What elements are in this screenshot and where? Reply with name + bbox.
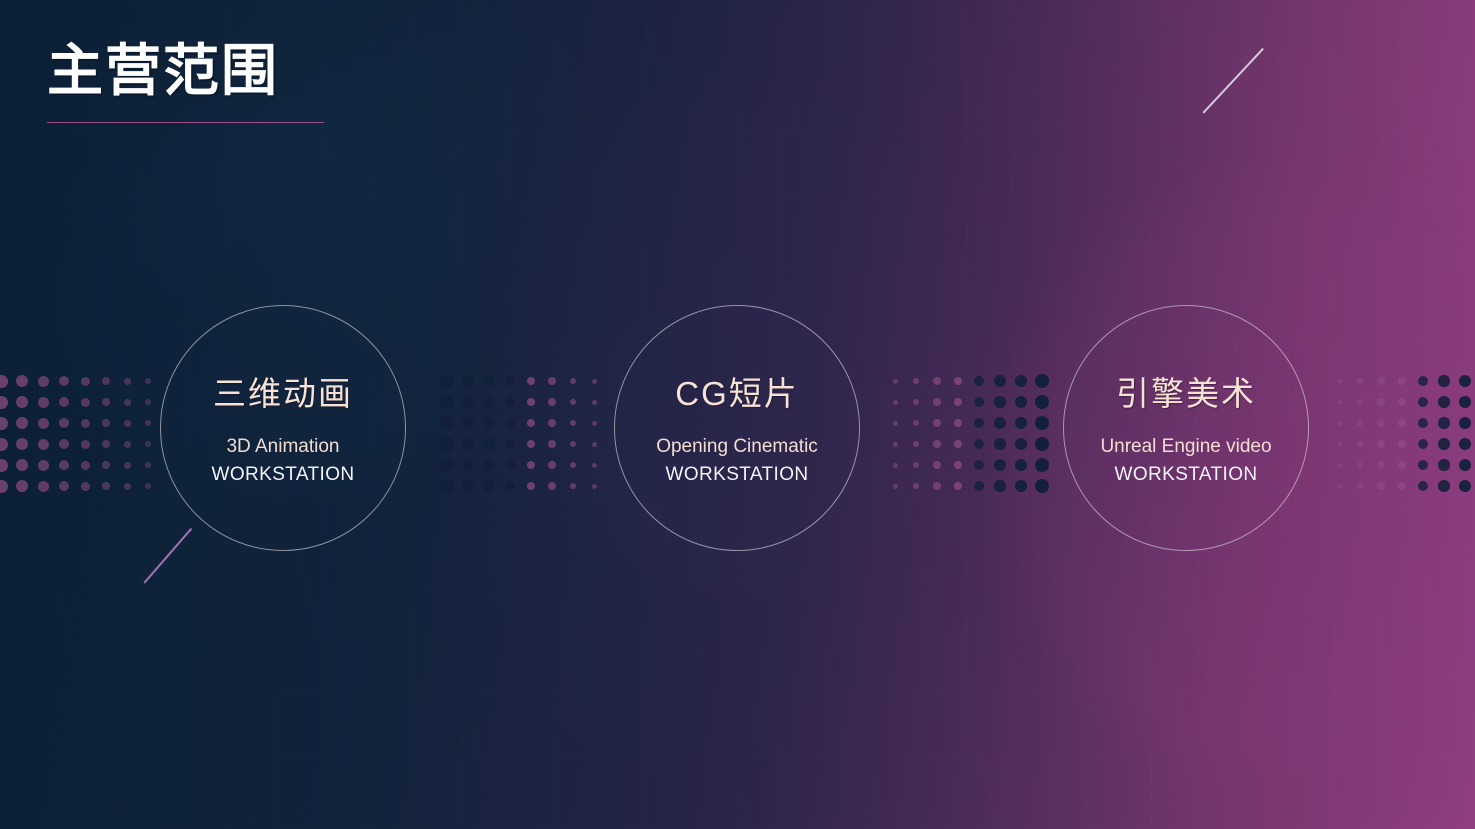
decorative-dot bbox=[954, 377, 963, 386]
decorative-dot bbox=[16, 480, 28, 492]
decorative-dot bbox=[1015, 417, 1028, 430]
decorative-dot bbox=[1418, 481, 1428, 491]
decorative-dot bbox=[81, 482, 90, 491]
decorative-dot bbox=[16, 438, 28, 450]
service-circle-engine-art[interactable]: 引擎美术 Unreal Engine video WORKSTATION bbox=[1063, 305, 1309, 551]
decorative-dot bbox=[913, 378, 919, 384]
decorative-dot bbox=[59, 376, 69, 386]
dot-grid-right bbox=[1332, 374, 1475, 484]
decorative-dot bbox=[1015, 396, 1028, 409]
decorative-dot bbox=[462, 396, 475, 409]
decorative-dot bbox=[1398, 440, 1407, 449]
decorative-dot bbox=[974, 481, 984, 491]
decorative-dot bbox=[1459, 459, 1472, 472]
decorative-dot bbox=[994, 480, 1005, 491]
decorative-dot bbox=[440, 416, 454, 430]
decorative-dot bbox=[994, 417, 1005, 428]
decorative-dot bbox=[1377, 398, 1385, 406]
decorative-dot bbox=[1377, 440, 1385, 448]
decorative-dot bbox=[974, 439, 984, 449]
decorative-dot bbox=[1357, 441, 1363, 447]
decorative-dot bbox=[124, 483, 131, 490]
decorative-dot bbox=[483, 375, 494, 386]
decorative-dot bbox=[527, 461, 536, 470]
decorative-dot bbox=[483, 438, 494, 449]
decorative-dot bbox=[124, 462, 131, 469]
decorative-dot bbox=[527, 440, 536, 449]
decorative-dot bbox=[570, 378, 576, 384]
decorative-dot bbox=[1459, 396, 1472, 409]
decorative-dot bbox=[505, 439, 515, 449]
decorative-dot bbox=[0, 375, 8, 388]
decorative-dot bbox=[548, 419, 556, 427]
decorative-dot bbox=[933, 377, 941, 385]
decorative-dot bbox=[102, 377, 110, 385]
decorative-dot bbox=[145, 399, 151, 405]
service-workstation-label: WORKSTATION bbox=[1114, 461, 1257, 490]
decorative-dot bbox=[1377, 482, 1385, 490]
decorative-dot bbox=[1398, 377, 1407, 386]
decorative-dot bbox=[994, 438, 1005, 449]
service-title-en: Unreal Engine video bbox=[1100, 433, 1271, 462]
decorative-dot bbox=[954, 440, 963, 449]
decorative-dot bbox=[954, 461, 963, 470]
decorative-dot bbox=[59, 418, 69, 428]
decorative-dot bbox=[1035, 437, 1049, 451]
decorative-dot bbox=[0, 438, 8, 451]
decorative-dot bbox=[1015, 438, 1028, 451]
decorative-dot bbox=[1418, 418, 1428, 428]
decorative-dot bbox=[505, 460, 515, 470]
decorative-dot bbox=[592, 379, 597, 384]
decorative-dot bbox=[933, 440, 941, 448]
decorative-dot bbox=[527, 419, 536, 428]
decorative-dot bbox=[124, 399, 131, 406]
decorative-dot bbox=[1337, 442, 1342, 447]
decorative-dot bbox=[483, 459, 494, 470]
decorative-dot bbox=[1438, 459, 1449, 470]
decorative-dot bbox=[954, 419, 963, 428]
dot-grid-left bbox=[0, 374, 144, 484]
decorative-dot bbox=[994, 396, 1005, 407]
decorative-dot bbox=[1438, 417, 1449, 428]
decorative-dot bbox=[1438, 438, 1449, 449]
decorative-dot bbox=[548, 377, 556, 385]
decorative-dot bbox=[913, 441, 919, 447]
decorative-dot bbox=[1337, 484, 1342, 489]
decorative-dot bbox=[38, 397, 49, 408]
service-title-cn: 引擎美术 bbox=[1116, 367, 1256, 415]
decorative-dot bbox=[974, 418, 984, 428]
decorative-dot bbox=[16, 375, 28, 387]
decorative-dot bbox=[483, 417, 494, 428]
decorative-dot bbox=[38, 418, 49, 429]
decorative-dot bbox=[1418, 460, 1428, 470]
decorative-dot bbox=[38, 376, 49, 387]
decorative-dot bbox=[59, 460, 69, 470]
decorative-dot bbox=[145, 462, 151, 468]
decorative-dot bbox=[548, 398, 556, 406]
decorative-dot bbox=[1337, 463, 1342, 468]
decorative-dot bbox=[81, 398, 90, 407]
decorative-dot bbox=[893, 379, 898, 384]
decorative-dot bbox=[1377, 377, 1385, 385]
decorative-dot bbox=[0, 417, 8, 430]
decorative-dot bbox=[1459, 375, 1472, 388]
decorative-dot bbox=[505, 376, 515, 386]
decorative-dot bbox=[592, 442, 597, 447]
decorative-dot bbox=[1035, 416, 1049, 430]
decorative-dot bbox=[1035, 374, 1049, 388]
decorative-dot bbox=[893, 484, 898, 489]
decorative-dot bbox=[1035, 458, 1049, 472]
decorative-dot bbox=[527, 377, 536, 386]
decorative-dot bbox=[102, 398, 110, 406]
decorative-dot bbox=[1337, 379, 1342, 384]
decorative-dot bbox=[81, 419, 90, 428]
decorative-dot bbox=[124, 441, 131, 448]
decorative-dot bbox=[570, 462, 576, 468]
decorative-dot bbox=[1337, 400, 1342, 405]
decorative-dot bbox=[462, 459, 475, 472]
decorative-dot bbox=[570, 420, 576, 426]
decorative-dot bbox=[1438, 396, 1449, 407]
decorative-dot bbox=[933, 398, 941, 406]
decorative-dot bbox=[933, 461, 941, 469]
decorative-dot bbox=[893, 421, 898, 426]
decorative-dot bbox=[16, 417, 28, 429]
decorative-dot bbox=[1015, 375, 1028, 388]
decorative-dot bbox=[505, 397, 515, 407]
decorative-dot bbox=[893, 442, 898, 447]
decorative-dot bbox=[102, 419, 110, 427]
decorative-dot bbox=[1337, 421, 1342, 426]
decorative-dot bbox=[145, 441, 151, 447]
service-workstation-label: WORKSTATION bbox=[665, 461, 808, 490]
decorative-dot bbox=[59, 439, 69, 449]
decorative-dot bbox=[505, 418, 515, 428]
decorative-dot bbox=[592, 463, 597, 468]
decorative-dot bbox=[592, 484, 597, 489]
decorative-dot bbox=[440, 479, 454, 493]
decorative-dot bbox=[913, 420, 919, 426]
decorative-dot bbox=[933, 482, 941, 490]
decorative-dot bbox=[893, 463, 898, 468]
title-block: 主营范围 bbox=[47, 40, 324, 123]
decorative-dot bbox=[570, 399, 576, 405]
decorative-dot bbox=[1418, 376, 1428, 386]
title-underline bbox=[47, 122, 324, 124]
service-workstation-label: WORKSTATION bbox=[211, 461, 354, 490]
decorative-dot bbox=[570, 441, 576, 447]
dot-grid-between-2-3 bbox=[888, 374, 1038, 484]
decorative-dot bbox=[592, 421, 597, 426]
decorative-dot bbox=[548, 461, 556, 469]
service-circle-3d-animation[interactable]: 三维动画 3D Animation WORKSTATION bbox=[160, 305, 406, 551]
decorative-dot bbox=[145, 378, 151, 384]
decorative-dot bbox=[1357, 399, 1363, 405]
decorative-dot bbox=[102, 482, 110, 490]
decorative-dot bbox=[124, 420, 131, 427]
service-circle-cg-short-film[interactable]: CG短片 Opening Cinematic WORKSTATION bbox=[614, 305, 860, 551]
decorative-dot bbox=[440, 374, 454, 388]
decorative-dot bbox=[145, 420, 151, 426]
decorative-dot bbox=[38, 481, 49, 492]
decorative-dot bbox=[81, 377, 90, 386]
decorative-dot bbox=[462, 375, 475, 388]
decorative-dot bbox=[1418, 397, 1428, 407]
decorative-dot bbox=[440, 458, 454, 472]
decorative-dot bbox=[548, 440, 556, 448]
decorative-dot bbox=[440, 395, 454, 409]
decorative-dot bbox=[0, 459, 8, 472]
decorative-dot bbox=[102, 440, 110, 448]
decorative-dot bbox=[1377, 461, 1385, 469]
decorative-dot bbox=[102, 461, 110, 469]
service-title-en: 3D Animation bbox=[226, 433, 339, 462]
decorative-dot bbox=[1398, 461, 1407, 470]
decorative-dot bbox=[483, 480, 494, 491]
decorative-dot bbox=[462, 417, 475, 430]
decorative-dot bbox=[145, 483, 151, 489]
dot-grid-between-1-2 bbox=[440, 374, 590, 484]
slide-canvas: 主营范围 三维动画 3D Animation WORKSTATION CG短片 … bbox=[0, 0, 1475, 829]
decorative-dot bbox=[913, 462, 919, 468]
decorative-dot bbox=[0, 480, 8, 493]
decorative-dot bbox=[1438, 480, 1449, 491]
decorative-dot bbox=[1035, 395, 1049, 409]
decorative-dot bbox=[16, 396, 28, 408]
decorative-dot bbox=[1438, 375, 1449, 386]
service-title-en: Opening Cinematic bbox=[656, 433, 818, 462]
decorative-dot bbox=[1418, 439, 1428, 449]
decorative-dot bbox=[59, 397, 69, 407]
decorative-dot bbox=[1357, 378, 1363, 384]
decorative-dot bbox=[440, 437, 454, 451]
decorative-dot bbox=[1015, 459, 1028, 472]
decorative-dot bbox=[505, 481, 515, 491]
decorative-dot bbox=[994, 375, 1005, 386]
decorative-dot bbox=[954, 398, 963, 407]
decorative-dot bbox=[483, 396, 494, 407]
decorative-dot bbox=[462, 438, 475, 451]
decorative-dot bbox=[974, 460, 984, 470]
decorative-dot bbox=[1357, 420, 1363, 426]
decorative-dot bbox=[548, 482, 556, 490]
decorative-dot bbox=[933, 419, 941, 427]
decorative-dot bbox=[974, 397, 984, 407]
decorative-dot bbox=[893, 400, 898, 405]
decorative-dot bbox=[38, 460, 49, 471]
decorative-dot bbox=[59, 481, 69, 491]
decorative-dot bbox=[1459, 417, 1472, 430]
decorative-dot bbox=[527, 398, 536, 407]
decorative-dot bbox=[592, 400, 597, 405]
decorative-dot bbox=[974, 376, 984, 386]
decorative-dot bbox=[38, 439, 49, 450]
decorative-dot bbox=[124, 378, 131, 385]
decorative-dot bbox=[81, 461, 90, 470]
decorative-dot bbox=[1357, 462, 1363, 468]
decorative-dot bbox=[913, 399, 919, 405]
decorative-dot bbox=[1398, 398, 1407, 407]
decorative-dot bbox=[994, 459, 1005, 470]
decorative-dot bbox=[16, 459, 28, 471]
page-title: 主营范围 bbox=[47, 40, 324, 102]
decorative-dot bbox=[0, 396, 8, 409]
decorative-dot bbox=[1459, 438, 1472, 451]
decorative-dot bbox=[81, 440, 90, 449]
decorative-dot bbox=[1398, 419, 1407, 428]
service-title-cn: CG短片 bbox=[675, 367, 799, 415]
decorative-dot bbox=[1377, 419, 1385, 427]
service-title-cn: 三维动画 bbox=[213, 367, 353, 415]
decorative-dot bbox=[1035, 479, 1049, 493]
